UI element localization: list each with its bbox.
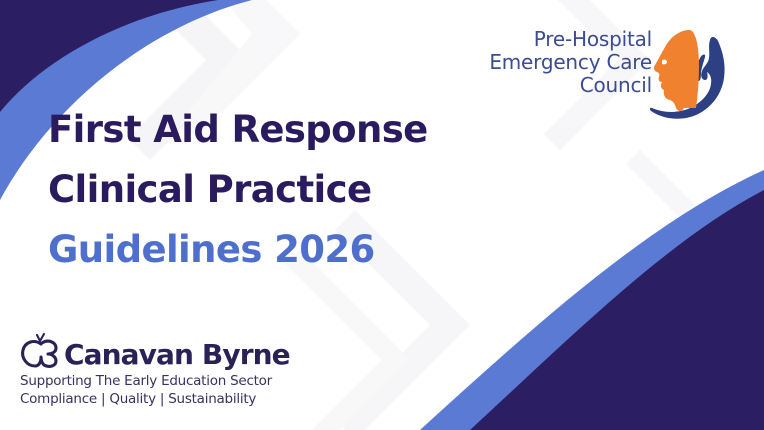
canavan-byrne-name: Canavan Byrne: [64, 341, 290, 369]
presentation-slide: Pre-Hospital Emergency Care Council Firs…: [0, 0, 764, 430]
phecc-wordmark-line-2: Emergency Care: [480, 51, 652, 74]
tagline-line-2: Compliance | Quality | Sustainability: [20, 391, 278, 409]
tagline-line-1: Supporting The Early Education Sector: [20, 373, 278, 391]
phecc-wordmark: Pre-Hospital Emergency Care Council: [480, 28, 652, 98]
title-line-1: First Aid Response: [48, 100, 518, 160]
title-line-3: Guidelines 2026: [48, 220, 518, 280]
phecc-wordmark-line-1: Pre-Hospital: [480, 28, 652, 51]
canavan-byrne-tagline: Supporting The Early Education Sector Co…: [20, 373, 278, 409]
title-line-2: Clinical Practice: [48, 160, 518, 220]
phecc-logo: Pre-Hospital Emergency Care Council: [480, 22, 742, 134]
phecc-wordmark-line-3: Council: [480, 74, 652, 97]
canavan-byrne-logo: Canavan Byrne Supporting The Early Educa…: [18, 330, 278, 412]
apple-right-lobe: [41, 341, 56, 366]
canavan-byrne-lockup: Canavan Byrne: [18, 330, 278, 370]
phecc-face-profile: [654, 30, 699, 111]
apple-left-lobe: [23, 342, 41, 366]
apple-stem: [37, 334, 44, 341]
slide-title: First Aid Response Clinical Practice Gui…: [48, 100, 518, 280]
phecc-emblem-icon: [648, 22, 744, 134]
apple-outline-icon: [18, 332, 62, 370]
